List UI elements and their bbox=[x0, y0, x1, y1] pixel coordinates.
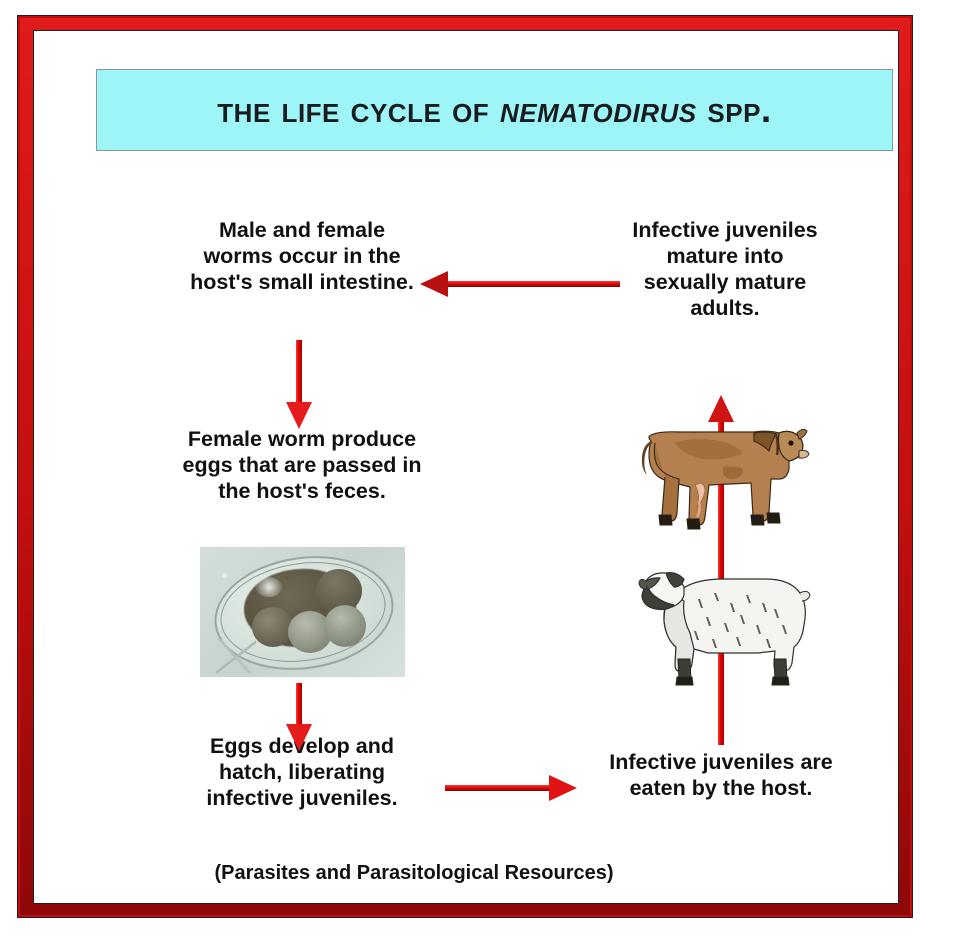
title-trail: spp. bbox=[697, 89, 772, 130]
decorative-frame-inner-line: The Life Cycle of Nematodirus spp. Male … bbox=[33, 30, 899, 904]
arrow-shaft bbox=[296, 683, 302, 725]
arrow-head bbox=[420, 271, 448, 297]
egg-blastomere bbox=[324, 605, 366, 647]
arrow-eggs-to-hatch-icon bbox=[286, 683, 312, 751]
egg-micrograph-image bbox=[200, 547, 405, 677]
egg-highlight bbox=[256, 577, 282, 597]
arrow-head bbox=[708, 395, 734, 422]
cow-illustration bbox=[639, 421, 814, 543]
arrow-hatch-to-eaten-icon bbox=[445, 775, 577, 801]
arrow-head bbox=[286, 402, 312, 429]
micrograph-debris bbox=[216, 639, 256, 673]
source-credit: (Parasites and Parasitological Resources… bbox=[164, 862, 664, 885]
arrow-shaft bbox=[446, 281, 620, 287]
sheep-illustration bbox=[638, 559, 816, 691]
stage-label-intestine: Male and female worms occur in the host'… bbox=[172, 217, 432, 295]
page-title: The Life Cycle of Nematodirus spp. bbox=[217, 89, 771, 131]
arrow-mature-to-intestine-icon bbox=[420, 271, 620, 297]
stage-label-eaten: Infective juveniles are eaten by the hos… bbox=[586, 749, 856, 801]
stage-label-mature: Infective juveniles mature into sexually… bbox=[594, 217, 856, 321]
arrow-head bbox=[286, 724, 312, 751]
stage-label-eggs: Female worm produce eggs that are passed… bbox=[162, 426, 442, 504]
arrow-shaft bbox=[445, 785, 551, 791]
decorative-frame-outer: The Life Cycle of Nematodirus spp. Male … bbox=[17, 15, 913, 918]
arrow-head bbox=[549, 775, 577, 801]
diagram-panel: The Life Cycle of Nematodirus spp. Male … bbox=[34, 31, 898, 903]
title-lead: The Life Cycle of bbox=[217, 89, 500, 130]
title-box: The Life Cycle of Nematodirus spp. bbox=[96, 69, 893, 151]
arrow-shaft bbox=[296, 340, 302, 403]
arrow-intestine-to-eggs-icon bbox=[286, 340, 312, 430]
diagram-canvas: The Life Cycle of Nematodirus spp. Male … bbox=[0, 0, 960, 944]
title-genus: Nematodirus bbox=[500, 89, 697, 130]
